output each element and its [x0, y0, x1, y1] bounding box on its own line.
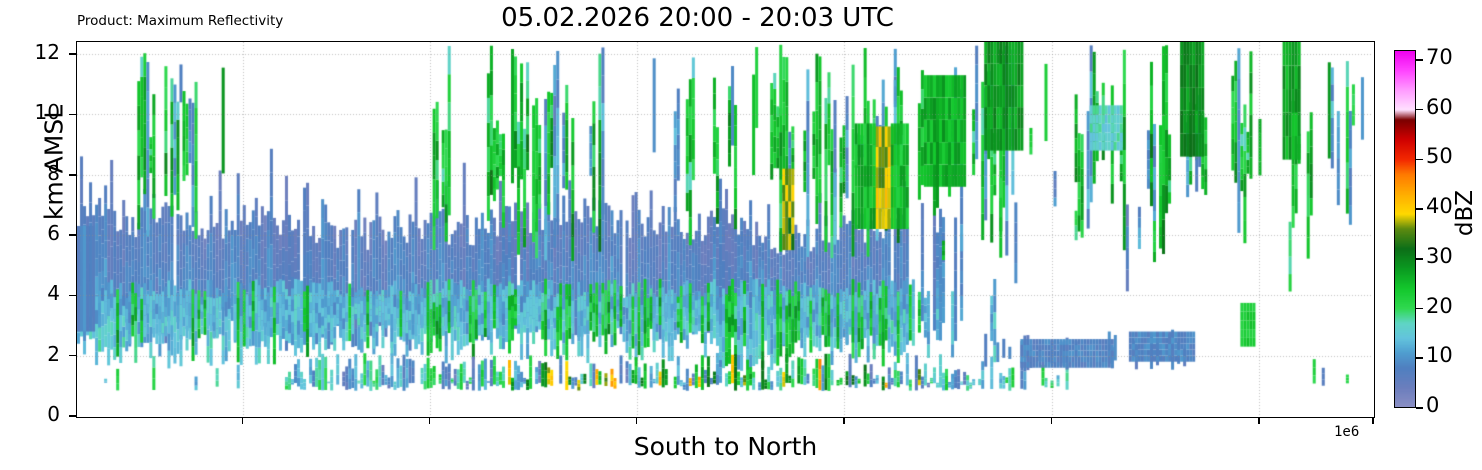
x-tick-mark	[1051, 417, 1053, 424]
reflectivity-heatmap	[77, 42, 1373, 416]
x-tick-mark	[636, 417, 638, 424]
y-tick-label: 12	[24, 40, 60, 64]
x-tick-mark	[242, 417, 244, 424]
colorbar-tick-label: 10	[1426, 343, 1453, 367]
y-tick-mark	[69, 355, 76, 357]
colorbar	[1394, 50, 1416, 408]
colorbar-title: dBZ	[1452, 153, 1478, 273]
colorbar-tick-label: 20	[1426, 294, 1453, 318]
colorbar-tick-label: 60	[1426, 95, 1453, 119]
colorbar-tick-mark	[1416, 109, 1423, 111]
colorbar-tick-mark	[1416, 357, 1423, 359]
x-tick-mark	[1258, 417, 1260, 424]
y-tick-mark	[69, 295, 76, 297]
y-tick-mark	[69, 234, 76, 236]
colorbar-tick-mark	[1416, 407, 1423, 409]
radar-cross-section-figure: Product: Maximum Reflectivity 05.02.2026…	[0, 0, 1482, 470]
y-tick-mark	[69, 174, 76, 176]
colorbar-tick-mark	[1416, 59, 1423, 61]
y-tick-label: 4	[24, 281, 60, 305]
x-tick-mark	[843, 417, 845, 424]
colorbar-tick-label: 50	[1426, 144, 1453, 168]
x-tick-mark	[1372, 417, 1374, 424]
colorbar-tick-mark	[1416, 159, 1423, 161]
plot-area	[76, 41, 1375, 418]
chart-title: 05.02.2026 20:00 - 20:03 UTC	[0, 3, 1395, 33]
y-tick-label: 0	[24, 402, 60, 426]
x-axis-label: South to North	[76, 432, 1375, 461]
x-tick-mark	[429, 417, 431, 424]
colorbar-tick-mark	[1416, 258, 1423, 260]
y-tick-mark	[69, 53, 76, 55]
x-axis-offset-text: 1e6	[1334, 424, 1359, 440]
colorbar-gradient	[1394, 50, 1416, 408]
colorbar-tick-label: 0	[1426, 393, 1439, 417]
y-tick-mark	[69, 415, 76, 417]
y-tick-mark	[69, 114, 76, 116]
colorbar-tick-label: 70	[1426, 45, 1453, 69]
y-tick-label: 2	[24, 342, 60, 366]
colorbar-tick-label: 40	[1426, 194, 1453, 218]
colorbar-tick-mark	[1416, 208, 1423, 210]
y-axis-label: km AMSL	[40, 73, 69, 253]
colorbar-tick-label: 30	[1426, 244, 1453, 268]
colorbar-tick-mark	[1416, 308, 1423, 310]
